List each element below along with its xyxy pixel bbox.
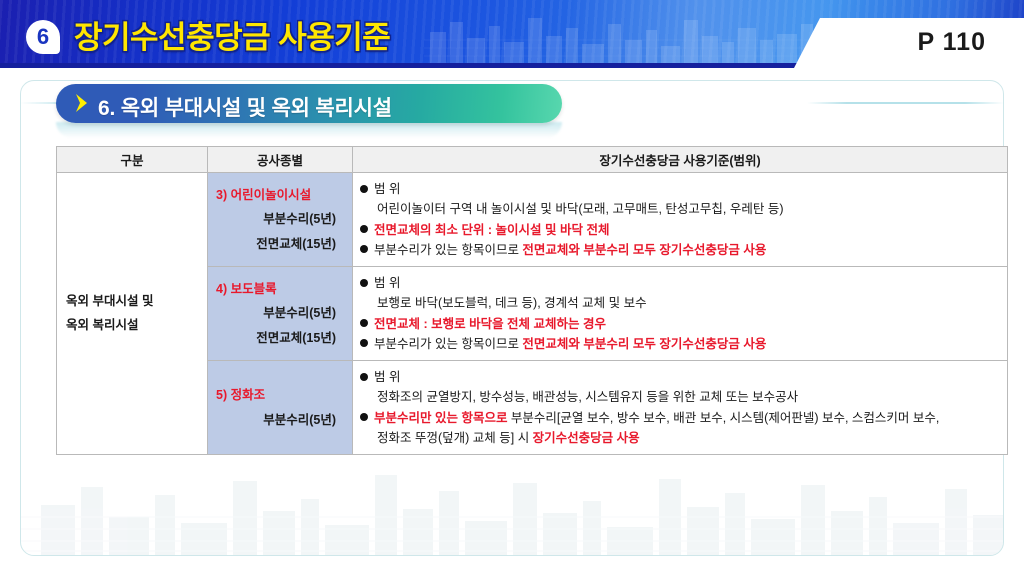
usage-criteria-table: 구분 공사종별 장기수선충당금 사용기준(범위) 옥외 부대시설 및 옥외 복리… — [56, 146, 1008, 455]
scope-plain-text: 부분수리가 있는 항목이므로 — [374, 243, 522, 257]
scope-emphasis-text: 전면교체 : 보행로 바닥을 전체 교체하는 경우 — [374, 317, 606, 331]
scope-plain-text: 부분수리가 있는 항목이므로 — [374, 337, 522, 351]
scope-plain-text: 보행로 바닥(보도블럭, 데크 등), 경계석 교체 및 보수 — [377, 296, 647, 310]
scope-plain-text: 범 위 — [374, 182, 400, 196]
scope-bullet-line: 부분수리가 있는 항목이므로 전면교체와 부분수리 모두 장기수선충당금 사용 — [360, 334, 1003, 354]
category-cell: 옥외 부대시설 및 옥외 복리시설 — [57, 173, 208, 455]
bullet-dot-icon — [360, 373, 368, 381]
scope-text-line: 어린이놀이터 구역 내 놀이시설 및 바닥(모래, 고무매트, 탄성고무칩, 우… — [360, 199, 1003, 219]
scope-emphasis-text: 장기수선충당금 사용 — [533, 431, 640, 445]
scope-emphasis-text: 전면교체와 부분수리 모두 장기수선충당금 사용 — [522, 337, 766, 351]
scope-bullet-line: 전면교체 : 보행로 바닥을 전체 교체하는 경우 — [360, 314, 1003, 334]
scope-plain-text: 정화조 뚜껑(덮개) 교체 등] 시 — [377, 431, 533, 445]
scope-cell-2: 범 위보행로 바닥(보도블럭, 데크 등), 경계석 교체 및 보수전면교체 :… — [353, 267, 1008, 361]
scope-bullet-line: 범 위 — [360, 273, 1003, 293]
scope-emphasis-text: 전면교체의 최소 단위 : 놀이시설 및 바닥 전체 — [374, 223, 609, 237]
scope-plain-text: 정화조의 균열방지, 방수성능, 배관성능, 시스템유지 등을 위한 교체 또는… — [377, 390, 798, 404]
column-header-scope: 장기수선충당금 사용기준(범위) — [353, 147, 1008, 173]
bullet-dot-icon — [360, 339, 368, 347]
table-body: 옥외 부대시설 및 옥외 복리시설 3) 어린이놀이시설부분수리(5년)전면교체… — [57, 173, 1008, 455]
category-line-1: 옥외 부대시설 및 — [66, 294, 153, 308]
scope-text-line: 보행로 바닥(보도블럭, 데크 등), 경계석 교체 및 보수 — [360, 293, 1003, 313]
scope-text-line: 정화조의 균열방지, 방수성능, 배관성능, 시스템유지 등을 위한 교체 또는… — [360, 387, 1003, 407]
section-pill-reflection — [56, 122, 562, 138]
work-type-subitem: 부분수리(5년) — [216, 207, 342, 231]
scope-emphasis-text: 부분수리만 있는 항목으로 — [374, 411, 511, 425]
bullet-dot-icon — [360, 279, 368, 287]
scope-plain-text: 범 위 — [374, 370, 400, 384]
page-title: 장기수선충당금 사용기준 — [74, 12, 390, 57]
scope-emphasis-text: 전면교체와 부분수리 모두 장기수선충당금 사용 — [522, 243, 766, 257]
page-number-notch — [794, 18, 1024, 68]
section-title-label: 6. 옥외 부대시설 및 옥외 복리시설 — [98, 92, 392, 122]
work-type-subitem: 부분수리(5년) — [216, 408, 342, 432]
scope-text-line: 정화조 뚜껑(덮개) 교체 등] 시 장기수선충당금 사용 — [360, 428, 1003, 448]
work-type-heading: 5) 정화조 — [216, 383, 342, 407]
chapter-number-badge: 6 — [26, 20, 60, 54]
category-line-2: 옥외 복리시설 — [66, 318, 138, 332]
scope-bullet-line: 부분수리만 있는 항목으로 부분수리[균열 보수, 방수 보수, 배관 보수, … — [360, 408, 1003, 428]
scope-plain-text: 부분수리[균열 보수, 방수 보수, 배관 보수, 시스템(제어판넬) 보수, … — [511, 411, 939, 425]
work-type-subitem: 부분수리(5년) — [216, 301, 342, 325]
bullet-dot-icon — [360, 225, 368, 233]
bullet-dot-icon — [360, 319, 368, 327]
table-row: 옥외 부대시설 및 옥외 복리시설 3) 어린이놀이시설부분수리(5년)전면교체… — [57, 173, 1008, 267]
work-type-cell-1: 3) 어린이놀이시설부분수리(5년)전면교체(15년) — [208, 173, 353, 267]
scope-plain-text: 어린이놀이터 구역 내 놀이시설 및 바닥(모래, 고무매트, 탄성고무칩, 우… — [377, 202, 784, 216]
scope-plain-text: 범 위 — [374, 276, 400, 290]
work-type-cell-3: 5) 정화조부분수리(5년) — [208, 361, 353, 455]
scope-bullet-line: 부분수리가 있는 항목이므로 전면교체와 부분수리 모두 장기수선충당금 사용 — [360, 240, 1003, 260]
page-number-label: P 110 — [917, 28, 986, 57]
work-type-heading: 4) 보도블록 — [216, 277, 342, 301]
bullet-dot-icon — [360, 413, 368, 421]
column-header-gubun: 구분 — [57, 147, 208, 173]
scope-bullet-line: 범 위 — [360, 179, 1003, 199]
work-type-cell-2: 4) 보도블록부분수리(5년)전면교체(15년) — [208, 267, 353, 361]
work-type-subitem: 전면교체(15년) — [216, 326, 342, 350]
scope-cell-3: 범 위정화조의 균열방지, 방수성능, 배관성능, 시스템유지 등을 위한 교체… — [353, 361, 1008, 455]
scope-cell-1: 범 위어린이놀이터 구역 내 놀이시설 및 바닥(모래, 고무매트, 탄성고무칩… — [353, 173, 1008, 267]
column-header-jongbyeol: 공사종별 — [208, 147, 353, 173]
scope-bullet-line: 전면교체의 최소 단위 : 놀이시설 및 바닥 전체 — [360, 220, 1003, 240]
bullet-dot-icon — [360, 185, 368, 193]
table-header-row: 구분 공사종별 장기수선충당금 사용기준(범위) — [57, 147, 1008, 173]
scope-bullet-line: 범 위 — [360, 367, 1003, 387]
chevron-right-icon — [74, 92, 92, 114]
bullet-dot-icon — [360, 245, 368, 253]
slide-root: 6 장기수선충당금 사용기준 P 110 — [0, 0, 1024, 576]
work-type-subitem: 전면교체(15년) — [216, 232, 342, 256]
header-skyline-graphic — [424, 6, 844, 68]
work-type-heading: 3) 어린이놀이시설 — [216, 183, 342, 207]
